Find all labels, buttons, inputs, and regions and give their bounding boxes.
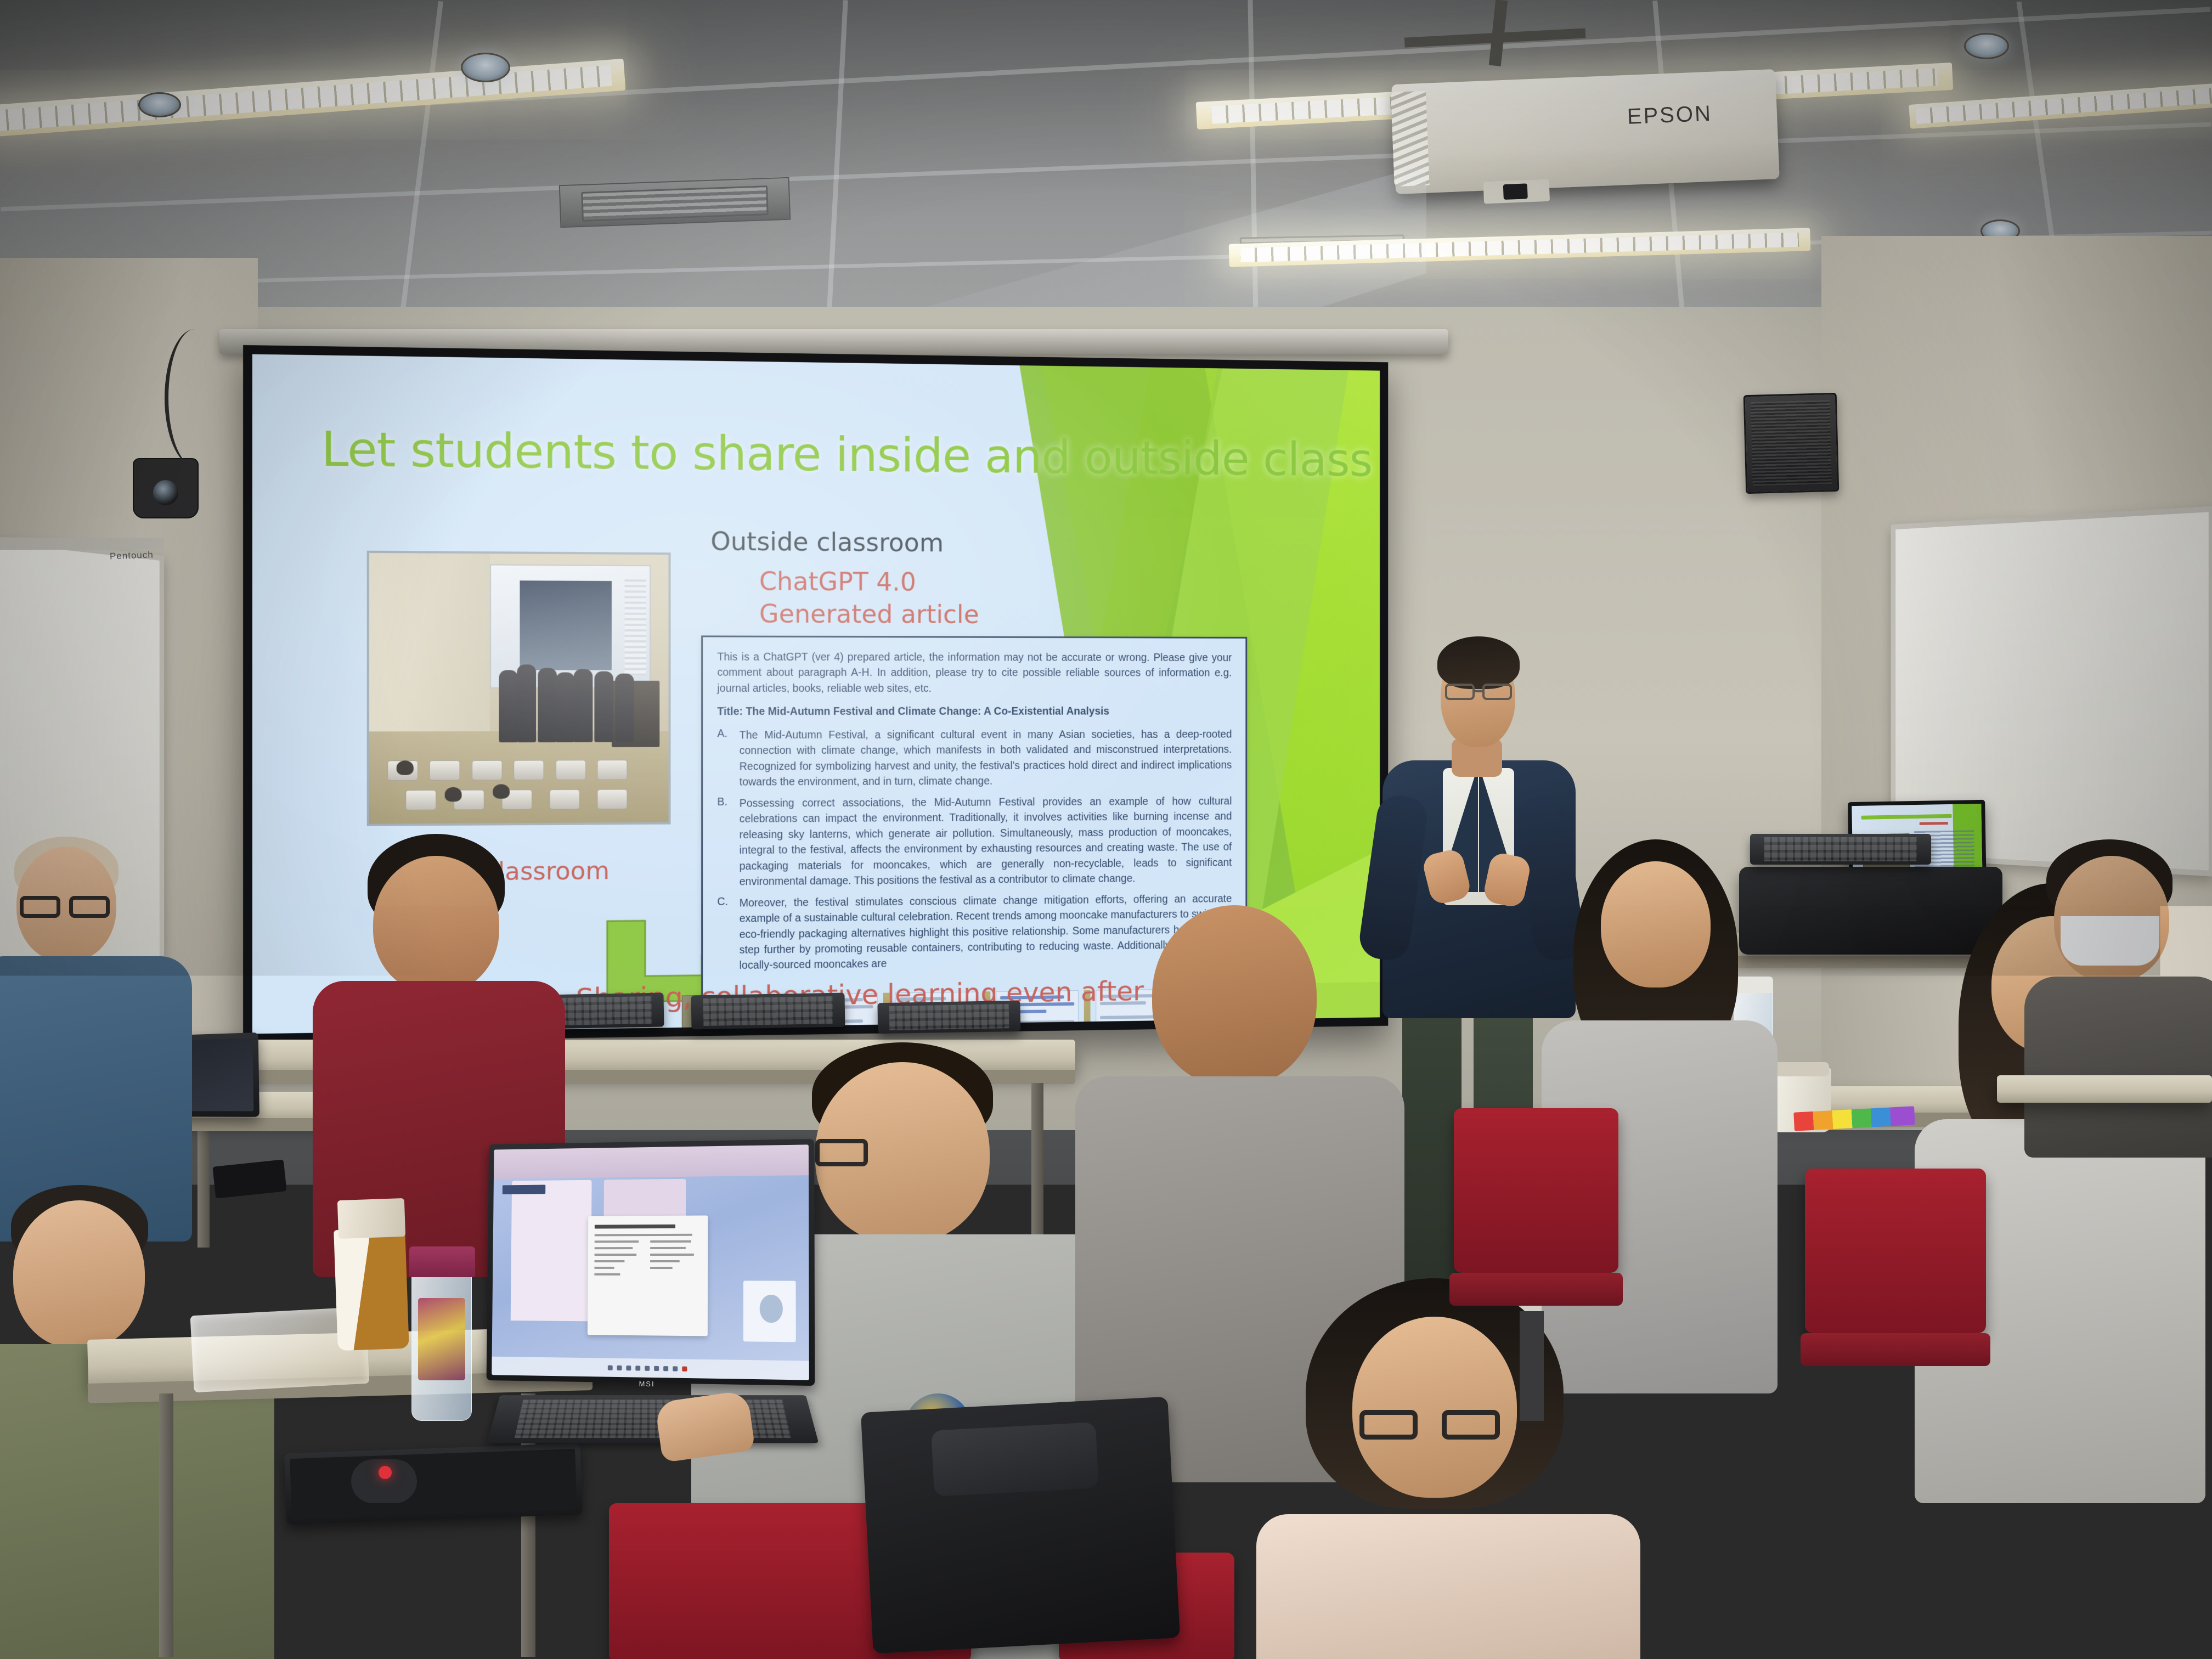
projector-brand-label: EPSON (1627, 101, 1713, 129)
form-card[interactable] (588, 1215, 708, 1336)
projector: EPSON (1391, 69, 1779, 194)
inside-classroom-photo (367, 551, 671, 826)
browser-tab[interactable] (510, 1180, 591, 1322)
taskbar[interactable] (492, 1357, 809, 1380)
site-logo (503, 1185, 545, 1194)
room-camera (133, 458, 199, 518)
laptop-screen[interactable] (492, 1144, 809, 1380)
whiteboard-tray (0, 537, 164, 550)
paragraph-marker: C. (717, 895, 731, 974)
desk (1997, 1075, 2212, 1103)
cup-sleeve (337, 1198, 405, 1239)
chatgpt-generated-line: Generated article (759, 597, 979, 630)
wall-speaker (1743, 393, 1839, 494)
mouse-led (379, 1466, 392, 1479)
backpack-pocket (931, 1422, 1099, 1497)
face-mask (2061, 916, 2159, 966)
ceiling-light (1229, 228, 1811, 267)
slide-chatgpt-label: ChatGPT 4.0 Generated article (759, 565, 979, 630)
audience-member (0, 837, 187, 1221)
audience-member (0, 1185, 274, 1659)
eyeglasses (20, 896, 60, 918)
slide-outside-classroom-label: Outside classroom (710, 526, 944, 557)
paragraph-marker: A. (717, 727, 731, 790)
article-paragraph: A. The Mid-Autumn Festival, a significan… (717, 727, 1232, 791)
laptop-brand-label: MSI (639, 1379, 655, 1388)
keyboard[interactable] (691, 993, 845, 1030)
whiteboard-brand-label: Pentouch (110, 550, 154, 562)
coffee-cup (334, 1228, 409, 1351)
ceiling-downlight (1964, 33, 2009, 59)
bottle-cap (409, 1246, 475, 1277)
article-title: Title: The Mid-Autumn Festival and Clima… (717, 704, 1232, 720)
laptop-keyboard[interactable] (487, 1395, 819, 1443)
ceiling-light (1909, 82, 2212, 129)
article-paragraph: B. Possessing correct associations, the … (717, 793, 1232, 890)
eyeglasses (815, 1139, 868, 1166)
ceiling-downlight (138, 92, 181, 117)
chatgpt-version-line: ChatGPT 4.0 (759, 565, 979, 599)
browser-toolbar[interactable] (494, 1144, 809, 1178)
chair[interactable] (1805, 1169, 1986, 1333)
avatar (760, 1295, 783, 1323)
ceiling-downlight (461, 53, 510, 82)
article-intro: This is a ChatGPT (ver 4) prepared artic… (717, 650, 1232, 697)
paragraph-body: The Mid-Autumn Festival, a significant c… (740, 727, 1232, 791)
bottle-label (418, 1298, 465, 1380)
paragraph-marker: B. (717, 796, 731, 890)
keyboard[interactable] (878, 1001, 1021, 1034)
paragraph-body: Possessing correct associations, the Mid… (740, 793, 1232, 890)
classroom-scene: EPSON Pentouch Let students to share ins… (0, 0, 2212, 1659)
chair[interactable] (1454, 1108, 1618, 1273)
eyeglasses (1359, 1410, 1418, 1440)
audience-member (1223, 1278, 1662, 1659)
